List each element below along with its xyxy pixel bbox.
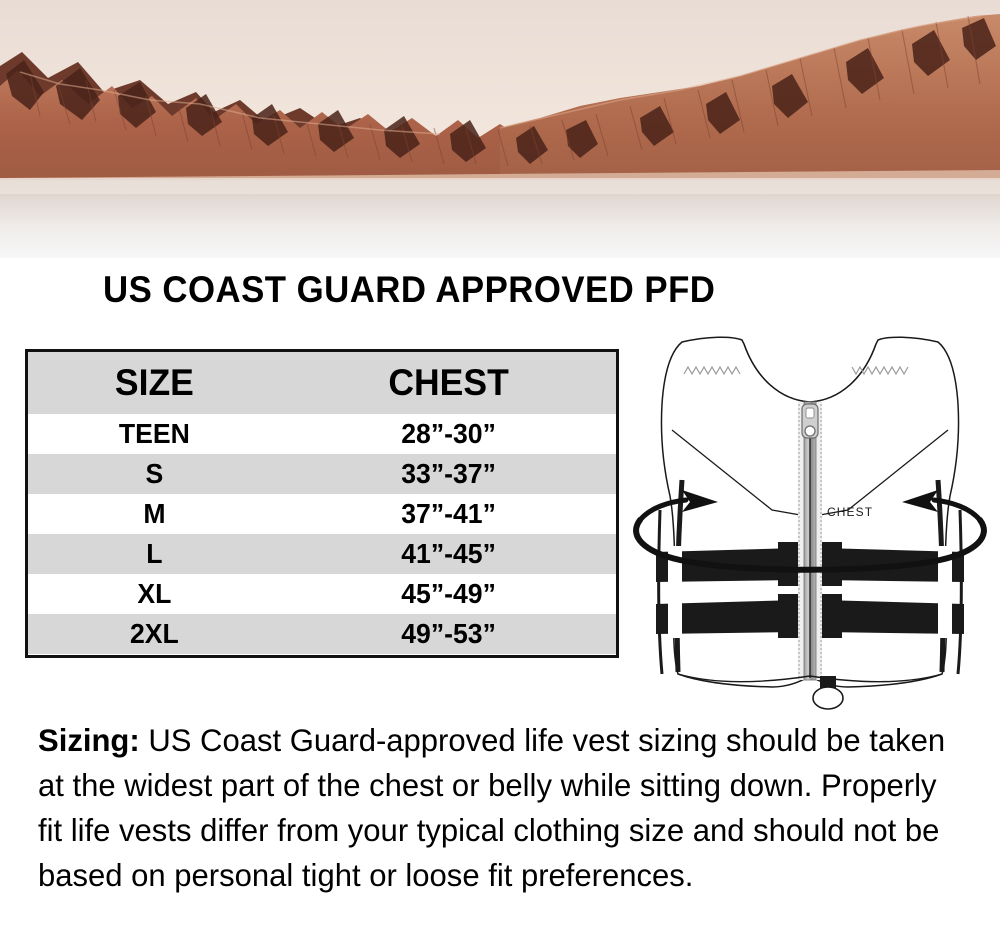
chest-measure-label: CHEST <box>827 505 873 519</box>
table-header-row: SIZE CHEST <box>28 352 616 414</box>
cell-chest: 41”-45” <box>289 534 607 574</box>
cell-size: M <box>34 494 274 534</box>
table-row: L 41”-45” <box>28 534 616 574</box>
cell-chest: 37”-41” <box>289 494 607 534</box>
cell-chest: 45”-49” <box>289 574 607 614</box>
sizing-note-body: US Coast Guard-approved life vest sizing… <box>38 722 945 893</box>
banner-photo <box>0 0 1000 258</box>
table-row: S 33”-37” <box>28 454 616 494</box>
life-vest-illustration <box>620 330 1000 720</box>
cell-size: XL <box>34 574 274 614</box>
water-haze <box>0 178 1000 194</box>
cell-size: 2XL <box>34 614 274 654</box>
life-vest-diagram <box>620 330 1000 720</box>
cell-size: L <box>34 534 274 574</box>
sizing-note-lead: Sizing: <box>38 722 140 758</box>
cell-chest: 49”-53” <box>289 614 607 654</box>
table-row: M 37”-41” <box>28 494 616 534</box>
table-row: TEEN 28”-30” <box>28 414 616 454</box>
banner-illustration <box>0 0 1000 258</box>
cell-size: S <box>34 454 274 494</box>
cell-size: TEEN <box>34 414 274 454</box>
vest-zipper <box>798 402 822 680</box>
page-title: US COAST GUARD APPROVED PFD <box>103 269 715 311</box>
cell-chest: 28”-30” <box>289 414 607 454</box>
size-chart-table: SIZE CHEST TEEN 28”-30” S 33”-37” M 37”-… <box>25 349 619 658</box>
cell-chest: 33”-37” <box>289 454 607 494</box>
table-row: XL 45”-49” <box>28 574 616 614</box>
column-header-size: SIZE <box>33 352 276 414</box>
table-row: 2XL 49”-53” <box>28 614 616 654</box>
sizing-note: Sizing: US Coast Guard-approved life ves… <box>38 718 952 898</box>
size-chart-page: US COAST GUARD APPROVED PFD SIZE CHEST T… <box>0 0 1000 948</box>
column-header-chest: CHEST <box>288 352 610 414</box>
